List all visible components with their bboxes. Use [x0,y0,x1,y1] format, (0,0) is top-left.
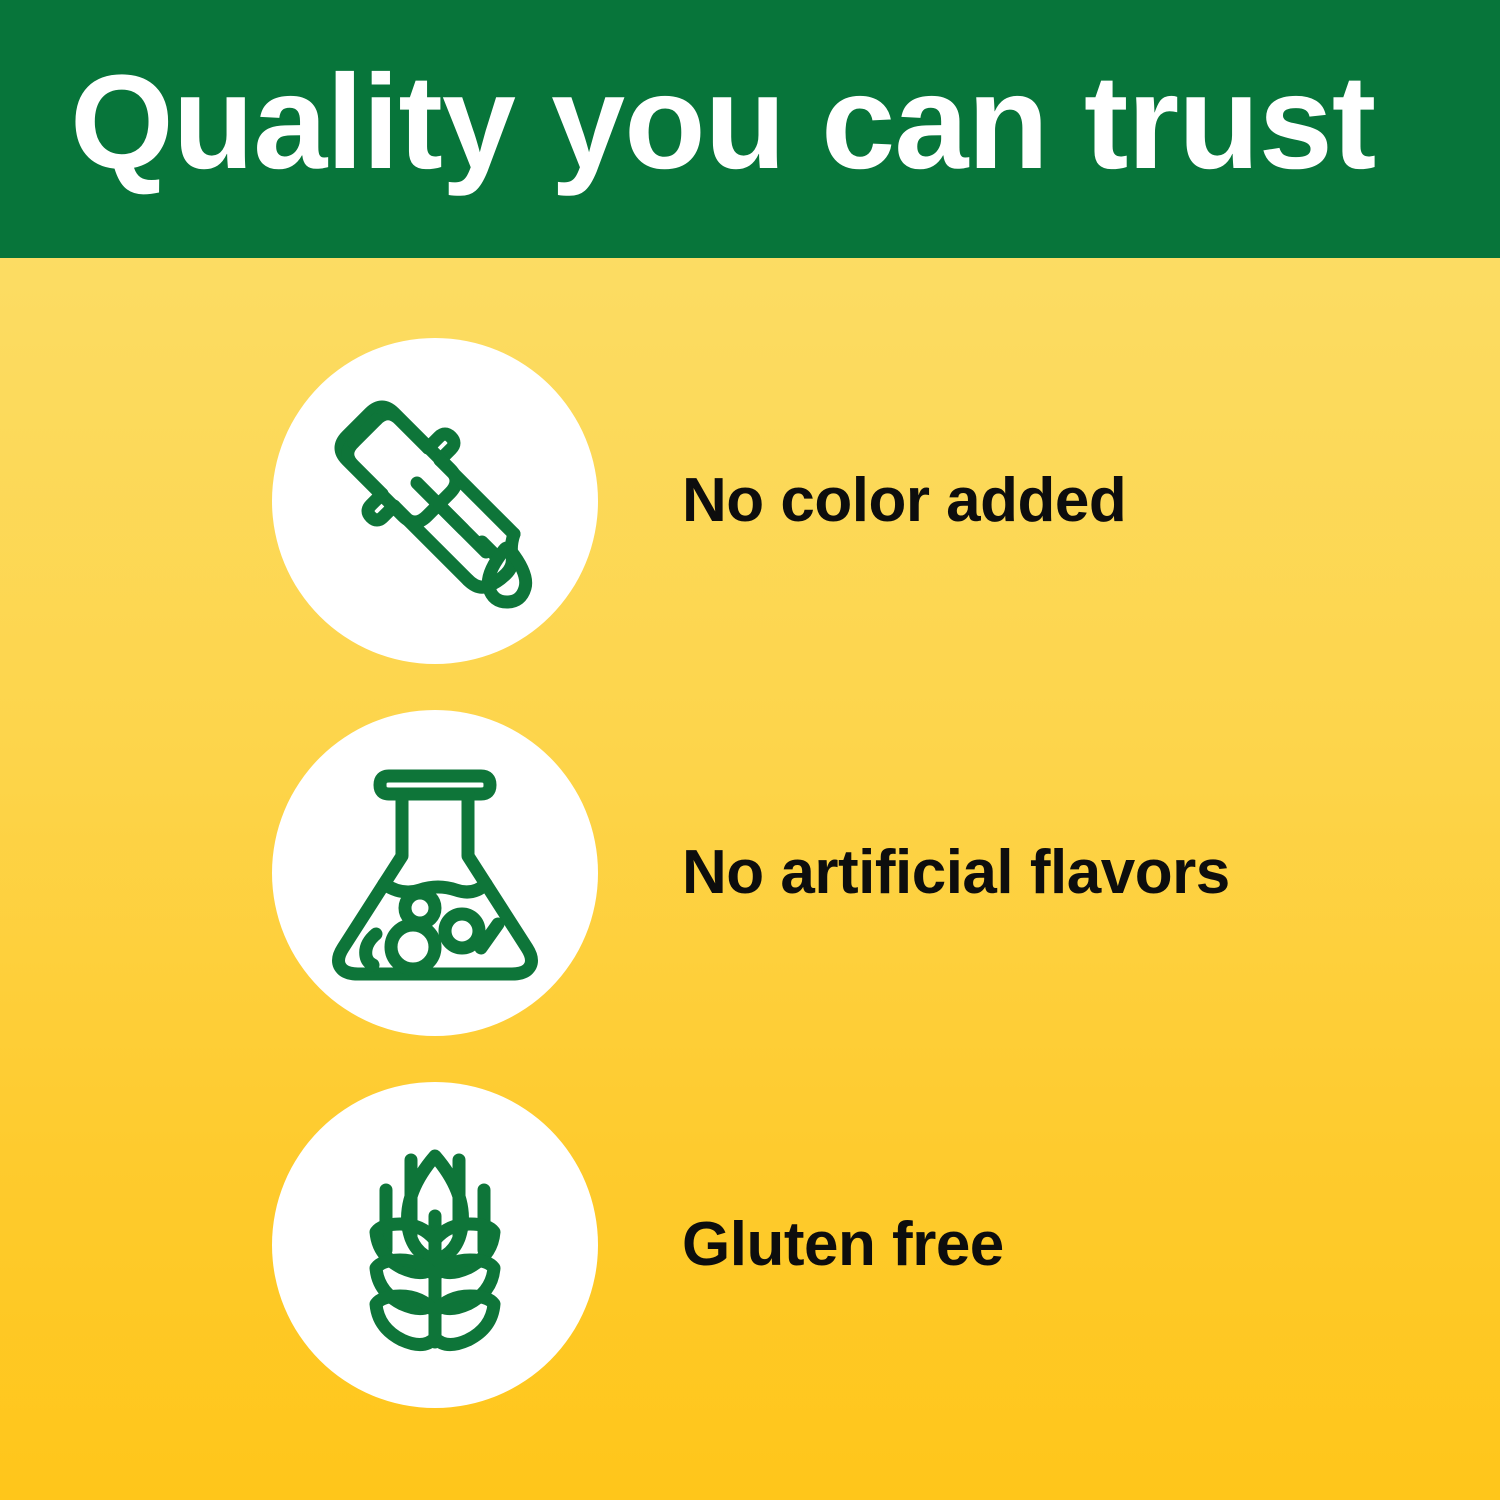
wheat-icon [310,1120,560,1370]
header-band: Quality you can trust [0,0,1500,258]
quality-badges-poster: Quality you can trust [0,0,1500,1500]
page-title: Quality you can trust [70,48,1443,198]
icon-badge-circle [272,1082,598,1408]
dropper-icon [310,376,560,626]
feature-row: No artificial flavors [0,710,1500,1036]
feature-label: No color added [682,338,1126,664]
icon-badge-circle [272,710,598,1036]
flask-icon [310,748,560,998]
feature-row: Gluten free [0,1082,1500,1408]
feature-row: No color added [0,338,1500,664]
feature-label: No artificial flavors [682,710,1230,1036]
icon-badge-circle [272,338,598,664]
feature-label: Gluten free [682,1082,1004,1408]
